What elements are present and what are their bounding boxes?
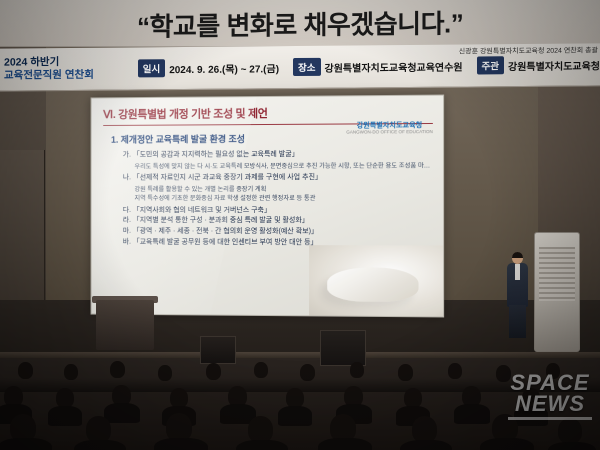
audience-head: [412, 416, 437, 443]
seated-audience: [0, 352, 600, 450]
bullet-label: 다.: [123, 207, 131, 214]
presenter-shirt: [515, 264, 520, 280]
date-chip: 일시: [138, 59, 165, 77]
floor-standing-air-conditioner: [534, 232, 580, 352]
slide-bullet: 가. 「도민의 공감과 지지력하는 필요성 없는 교육특례 발굴」: [123, 149, 433, 161]
slide-decorative-image: [309, 245, 443, 316]
slide-subbullet: 우리도 특성에 맞지 않는 다 시·도 교육특례 모방식사, 문면중심으로 추진…: [134, 161, 432, 171]
audience-head: [86, 416, 111, 443]
event-year: 2024 하반기: [4, 55, 138, 69]
audience-shoulders: [0, 438, 52, 450]
audience-head: [56, 388, 74, 408]
presenter: [504, 252, 532, 338]
bullet-text: 「도민의 공감과 지지력하는 필요성 없는 교육특례 발굴」: [133, 151, 299, 159]
air-conditioner-vent: [539, 247, 575, 301]
audience-head: [254, 362, 268, 378]
audience-shoulders: [236, 440, 288, 450]
slide-org-sub: GANGWON-DO OFFICE OF EDUCATION: [346, 130, 433, 135]
host-value: 강원특별자치도교육청: [508, 57, 600, 73]
audience-head: [448, 363, 462, 379]
event-title-block: 2024 하반기 교육전문직원 연찬회: [0, 55, 138, 82]
bullet-text: 「광역 · 제주 · 세종 · 전북 · 간 협의회 운영 활성화(예산 확보)…: [133, 228, 318, 235]
podium: [96, 300, 154, 350]
audience-head: [110, 361, 125, 378]
audience-head: [350, 362, 364, 378]
audience-shoulders: [548, 442, 596, 450]
audience-shoulders: [454, 404, 490, 424]
audience-head: [18, 362, 33, 379]
presenter-legs: [509, 305, 526, 338]
audience-head: [546, 363, 560, 379]
slide-bullet: 다. 「지역사회와 협의 네트워크 및 거버넌스 구축」: [123, 206, 433, 217]
audience-shoulders: [104, 403, 140, 423]
presenter-hair: [512, 252, 523, 258]
audience-head: [248, 416, 273, 443]
bullet-text: 「지역별 분석 통한 구성 · 분과회 중심 특례 발굴 및 활성화」: [133, 217, 309, 224]
slide-bullet: 마. 「광역 · 제주 · 세종 · 전북 · 간 협의회 운영 활성화(예산 …: [123, 227, 433, 238]
audience-head: [286, 388, 304, 408]
place-value: 강원특별자치도교육청교육연수원: [325, 58, 463, 74]
audience-shoulders: [74, 440, 126, 450]
date-value: 2024. 9. 26.(목) ~ 27.(금): [169, 60, 279, 76]
slide-subbullet: 강원 특례를 활용할 수 있는 개별 논리를 중장기 계획: [134, 185, 432, 195]
audience-head: [404, 388, 422, 408]
bullet-text: 「지역사회와 협의 네트워크 및 거버넌스 구축」: [133, 207, 271, 214]
slide-subbullets: 우리도 특성에 맞지 않는 다 시·도 교육특례 모방식사, 문면중심으로 추진…: [123, 161, 433, 171]
projection-screen: Ⅵ. 강원특별법 개정 기반 조성 및 제언 1. 제개정안 교육특례 발굴 환…: [91, 95, 445, 318]
audience-shoulders: [514, 406, 548, 426]
audience-shoulders: [278, 406, 312, 426]
event-info-strip: 2024 하반기 교육전문직원 연찬회 일시 2024. 9. 26.(목) ~…: [0, 43, 600, 91]
audience-shoulders: [400, 440, 452, 450]
bullet-label: 라.: [123, 217, 131, 224]
bullet-label: 가.: [123, 152, 131, 159]
slide-org-logo: 강원특별자치도교육청 GANGWON-DO OFFICE OF EDUCATIO…: [346, 122, 433, 135]
audience-head: [522, 388, 540, 408]
bullet-text: 「선제적 자료인지 시군 과교육 중장기 과제를 구현에 사업 추진」: [133, 174, 322, 181]
audience-head: [170, 388, 188, 408]
event-meta: 일시 2024. 9. 26.(목) ~ 27.(금) 장소 강원특별자치도교육…: [138, 55, 600, 77]
headline-banner: “학교를 변화로 채우겠습니다.”: [0, 0, 600, 47]
headline-text: “학교를 변화로 채우겠습니다.”: [137, 3, 463, 43]
auditorium-photo: “학교를 변화로 채우겠습니다.” 2024 하반기 교육전문직원 연찬회 일시…: [0, 0, 600, 450]
place-chip: 장소: [293, 58, 320, 76]
slide-bullet: 라. 「지역별 분석 통한 구성 · 분과회 중심 특례 발굴 및 활성화」: [123, 216, 433, 227]
bullet-label: 마.: [123, 228, 131, 235]
slide-section-title: 제개정안 교육특례 발굴 환경 조성: [121, 134, 245, 145]
audience-shoulders: [154, 438, 208, 450]
slide-subbullet: 지역 특수성에 기초한 문화중심 자료 학생 설정한 관련 행정자료 등 통관: [134, 194, 432, 203]
banner-corner-note: 신광훈 강원특별자치도교육청 2024 연찬회 총괄: [459, 46, 598, 57]
audience-head: [558, 418, 582, 444]
host-chip: 주관: [477, 56, 504, 74]
slide-bullets: 가. 「도민의 공감과 지지력하는 필요성 없는 교육특례 발굴」 우리도 특성…: [103, 149, 433, 249]
audience-shoulders: [318, 438, 372, 450]
audience-shoulders: [48, 406, 82, 426]
bullet-text: 「교육특례 발굴 공무원 등에 대한 인센티브 부여 방안 대안 등」: [133, 239, 318, 246]
host-group: 주관 강원특별자치도교육청: [477, 55, 600, 74]
bullet-label: 나.: [123, 174, 131, 181]
slide-subbullets: 강원 특례를 활용할 수 있는 개별 논리를 중장기 계획 지역 특수성에 기초…: [123, 185, 433, 204]
place-group: 장소 강원특별자치도교육청교육연수원: [293, 57, 462, 76]
slide-section-number: 1.: [111, 135, 118, 145]
event-name: 교육전문직원 연찬회: [4, 68, 138, 82]
slide-bullet: 나. 「선제적 자료인지 시군 과교육 중장기 과제를 구현에 사업 추진」: [123, 173, 433, 184]
bullet-label: 바.: [123, 239, 131, 246]
audience-shoulders: [480, 438, 534, 450]
